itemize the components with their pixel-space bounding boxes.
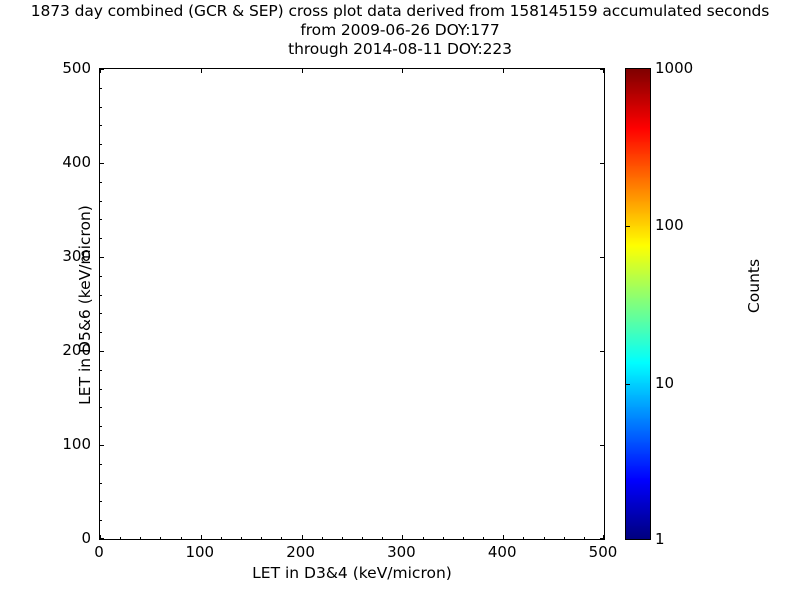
y-axis-tick (100, 538, 104, 539)
x-axis-minor-tick (382, 537, 383, 539)
plot-title-line-2: from 2009-06-26 DOY:177 (0, 21, 800, 40)
x-axis-minor-tick (483, 537, 484, 539)
x-axis-minor-tick (160, 537, 161, 539)
x-axis-minor-tick (221, 537, 222, 539)
x-axis-minor-tick (342, 537, 343, 539)
y-axis-tick (600, 69, 604, 70)
y-axis-tick (100, 445, 104, 446)
plot-title-line-1: 1873 day combined (GCR & SEP) cross plot… (0, 2, 800, 21)
y-axis-minor-tick (100, 520, 102, 521)
y-axis-minor-tick (100, 276, 102, 277)
colorbar-tick-label: 1000 (655, 59, 693, 77)
y-axis-minor-tick (100, 407, 102, 408)
y-axis-minor-tick (100, 389, 102, 390)
y-axis-minor-tick (100, 426, 102, 427)
figure: 1873 day combined (GCR & SEP) cross plot… (0, 0, 800, 600)
y-axis-minor-tick (100, 107, 102, 108)
y-axis-minor-tick (100, 219, 102, 220)
y-axis-tick (100, 257, 104, 258)
y-axis-minor-tick (100, 464, 102, 465)
y-axis-minor-tick (100, 483, 102, 484)
x-axis-tick-label: 500 (573, 543, 633, 561)
x-axis-minor-tick (362, 537, 363, 539)
x-axis-tick (402, 535, 403, 539)
x-axis-tick-label: 200 (271, 543, 331, 561)
colorbar-label: Counts (745, 176, 763, 396)
colorbar-tick-label: 10 (655, 374, 674, 392)
y-axis-minor-tick (100, 182, 102, 183)
y-axis-minor-tick (100, 144, 102, 145)
y-axis-minor-tick (100, 295, 102, 296)
plot-title: 1873 day combined (GCR & SEP) cross plot… (0, 2, 800, 59)
x-axis-minor-tick (584, 537, 585, 539)
plot-area[interactable] (99, 68, 605, 540)
colorbar-tick-label: 1 (655, 530, 665, 548)
y-axis-minor-tick (100, 125, 102, 126)
x-axis-tick-label: 400 (472, 543, 532, 561)
y-axis-tick (100, 351, 104, 352)
colorbar-tick (626, 384, 630, 385)
y-axis-minor-tick (100, 238, 102, 239)
y-axis-tick (100, 163, 104, 164)
x-axis-minor-tick (140, 537, 141, 539)
x-axis-minor-tick (181, 537, 182, 539)
x-axis-minor-tick (564, 537, 565, 539)
plot-title-line-3: through 2014-08-11 DOY:223 (0, 40, 800, 59)
x-axis-minor-tick (463, 537, 464, 539)
y-axis-tick (600, 445, 604, 446)
y-axis-minor-tick (100, 501, 102, 502)
x-axis-tick (201, 535, 202, 539)
x-axis-minor-tick (281, 537, 282, 539)
x-axis-minor-tick (443, 537, 444, 539)
x-axis-minor-tick (120, 537, 121, 539)
x-axis-tick (503, 69, 504, 73)
x-axis-minor-tick (523, 537, 524, 539)
x-axis-tick-label: 300 (371, 543, 431, 561)
x-axis-tick-label: 100 (170, 543, 230, 561)
colorbar[interactable] (625, 68, 651, 540)
colorbar-tick-label: 100 (655, 216, 684, 234)
x-axis-minor-tick (261, 537, 262, 539)
x-axis-minor-tick (544, 537, 545, 539)
y-axis-tick (600, 257, 604, 258)
x-axis-minor-tick (241, 537, 242, 539)
y-axis-minor-tick (100, 370, 102, 371)
y-axis-tick (600, 351, 604, 352)
y-axis-minor-tick (100, 88, 102, 89)
x-axis-minor-tick (322, 537, 323, 539)
y-axis-minor-tick (100, 313, 102, 314)
x-axis-tick (402, 69, 403, 73)
x-axis-tick (201, 69, 202, 73)
y-axis-tick (600, 538, 604, 539)
colorbar-gradient (626, 69, 650, 539)
x-axis-tick (302, 535, 303, 539)
y-axis-tick (600, 163, 604, 164)
y-axis-minor-tick (100, 332, 102, 333)
y-axis-label: LET in D5&6 (keV/micron) (76, 69, 94, 541)
x-axis-tick (503, 535, 504, 539)
x-axis-minor-tick (423, 537, 424, 539)
x-axis-tick (302, 69, 303, 73)
y-axis-tick (100, 69, 104, 70)
x-axis-label: LET in D3&4 (keV/micron) (99, 564, 605, 582)
density-heatmap (100, 69, 604, 539)
colorbar-tick (626, 226, 630, 227)
y-axis-minor-tick (100, 201, 102, 202)
